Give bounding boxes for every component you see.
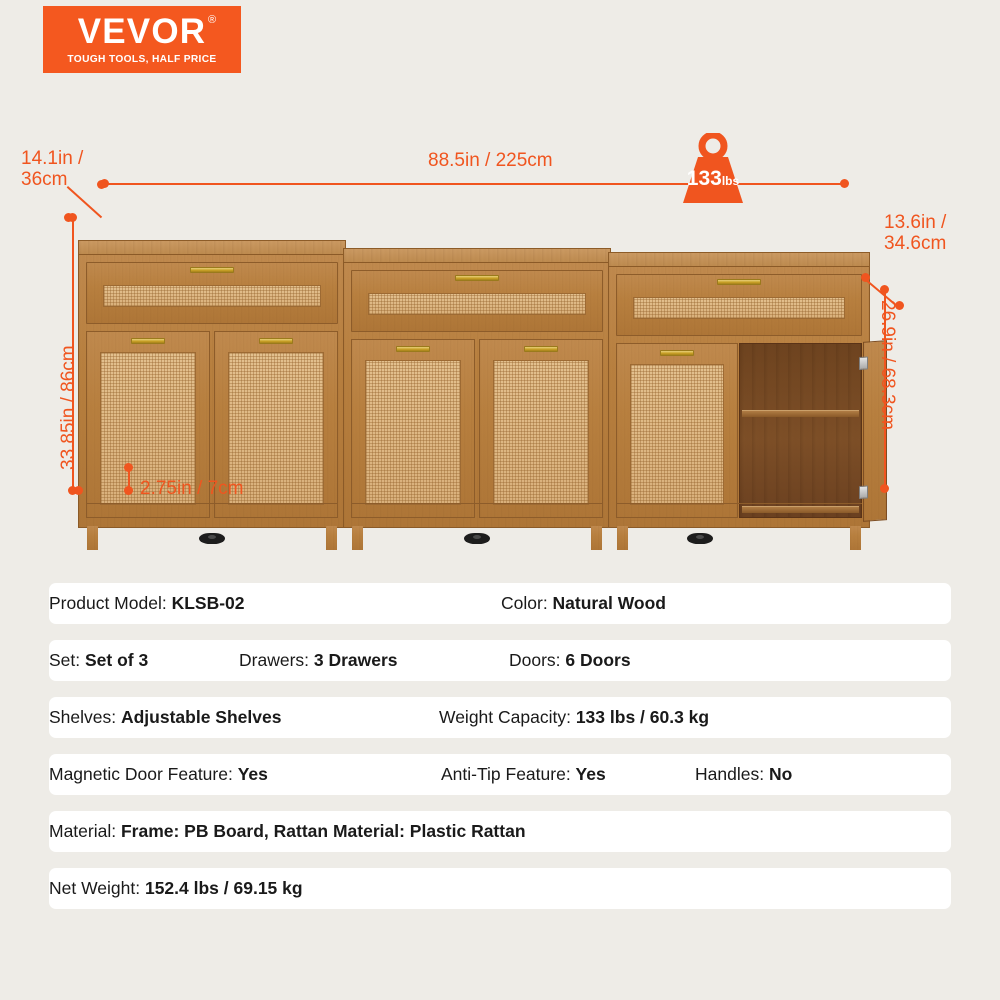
- spec-row: Magnetic Door Feature: YesAnti-Tip Featu…: [49, 754, 951, 795]
- height-dimension-label: 33.85in / 86cm: [58, 250, 79, 470]
- depth-dimension-endpoint: [97, 180, 106, 189]
- cabinet-body: [343, 262, 611, 528]
- spec-cell: Shelves: Adjustable Shelves: [49, 707, 281, 728]
- cabinet-door: [479, 339, 603, 518]
- spec-cell: Color: Natural Wood: [501, 593, 666, 614]
- spec-label: Drawers:: [239, 650, 314, 670]
- depth-dimension-label: 14.1in / 36cm: [21, 148, 83, 191]
- spec-value: KLSB-02: [172, 593, 245, 613]
- weight-number: 133: [687, 167, 722, 190]
- spec-value: Frame: PB Board, Rattan Material: Plasti…: [121, 821, 526, 841]
- cabinet-leg: [850, 526, 861, 550]
- leg-height-dimension-endpoint: [124, 463, 133, 472]
- spec-value: Natural Wood: [553, 593, 666, 613]
- spec-value: 152.4 lbs / 69.15 kg: [145, 878, 303, 898]
- vevor-logo: VEVOR® TOUGH TOOLS, HALF PRICE: [43, 6, 241, 73]
- spec-row: Product Model: KLSB-02Color: Natural Woo…: [49, 583, 951, 624]
- spec-value: 6 Doors: [565, 650, 630, 670]
- weight-unit: lbs: [722, 174, 739, 188]
- spec-value: Adjustable Shelves: [121, 707, 281, 727]
- anti-tip-foot-pad-icon: [687, 533, 713, 544]
- spec-label: Color:: [501, 593, 553, 613]
- door-opening-dimension-label: 26.9in / 68.3cm: [877, 300, 898, 500]
- spec-label: Net Weight:: [49, 878, 145, 898]
- spec-label: Magnetic Door Feature:: [49, 764, 238, 784]
- specifications-table: Product Model: KLSB-02Color: Natural Woo…: [49, 583, 951, 925]
- cabinet-door: [351, 339, 475, 518]
- height-dimension-endpoint: [68, 213, 77, 222]
- cabinet-interior: [739, 343, 862, 518]
- spec-cell: Doors: 6 Doors: [509, 650, 631, 671]
- width-dimension-label: 88.5in / 225cm: [428, 150, 553, 171]
- drawer-rattan-panel: [633, 297, 845, 319]
- cabinet-plinth: [616, 503, 862, 513]
- cabinet-plinth: [86, 503, 338, 513]
- cabinet-leg: [87, 526, 98, 550]
- spec-cell: Drawers: 3 Drawers: [239, 650, 398, 671]
- drawer-rattan-panel: [368, 293, 586, 315]
- cabinet-plinth: [351, 503, 603, 513]
- door-rattan-panel: [365, 360, 461, 505]
- cabinet-leg: [617, 526, 628, 550]
- spec-cell: Material: Frame: PB Board, Rattan Materi…: [49, 821, 526, 842]
- spec-label: Set:: [49, 650, 85, 670]
- anti-tip-foot-pad-icon: [464, 533, 490, 544]
- door-handle-icon: [396, 346, 430, 352]
- spec-value: No: [769, 764, 792, 784]
- leg-height-dimension-endpoint: [74, 486, 83, 495]
- spec-label: Weight Capacity:: [439, 707, 576, 727]
- width-dimension-endpoint: [840, 179, 849, 188]
- spec-cell: Product Model: KLSB-02: [49, 593, 245, 614]
- spec-label: Doors:: [509, 650, 565, 670]
- anti-tip-foot-pad-icon: [199, 533, 225, 544]
- cabinet-body: [608, 266, 870, 528]
- spec-label: Product Model:: [49, 593, 172, 613]
- spec-row: Net Weight: 152.4 lbs / 69.15 kg: [49, 868, 951, 909]
- brand-tagline: TOUGH TOOLS, HALF PRICE: [67, 54, 216, 65]
- side-depth-dimension-label: 13.6in / 34.6cm: [884, 212, 946, 255]
- door-rattan-panel: [630, 364, 724, 505]
- drawer: [616, 274, 862, 336]
- door-handle-icon: [259, 338, 293, 344]
- adjustable-shelf: [742, 410, 859, 417]
- spec-cell: Net Weight: 152.4 lbs / 69.15 kg: [49, 878, 303, 899]
- spec-value: 133 lbs / 60.3 kg: [576, 707, 709, 727]
- hinge-icon: [859, 485, 868, 499]
- door-handle-icon: [131, 338, 165, 344]
- spec-value: Yes: [238, 764, 268, 784]
- drawer: [351, 270, 603, 332]
- spec-cell: Anti-Tip Feature: Yes: [441, 764, 606, 785]
- cabinet-leg: [591, 526, 602, 550]
- spec-row: Set: Set of 3Drawers: 3 DrawersDoors: 6 …: [49, 640, 951, 681]
- spec-label: Anti-Tip Feature:: [441, 764, 576, 784]
- door-row: [351, 339, 603, 518]
- spec-label: Shelves:: [49, 707, 121, 727]
- drawer-handle-icon: [717, 279, 761, 285]
- cabinet-leg: [352, 526, 363, 550]
- door-handle-icon: [660, 350, 694, 356]
- leg-height-dimension-endpoint: [124, 486, 133, 495]
- weight-capacity-badge: 133lbs: [668, 133, 758, 205]
- drawer: [86, 262, 338, 324]
- spec-cell: Set: Set of 3: [49, 650, 148, 671]
- drawer-handle-icon: [455, 275, 499, 281]
- side-depth-dimension-endpoint: [861, 273, 870, 282]
- door-handle-icon: [524, 346, 558, 352]
- spec-cell: Weight Capacity: 133 lbs / 60.3 kg: [439, 707, 709, 728]
- leg-height-dimension-label: 2.75in / 7cm: [140, 478, 244, 499]
- registered-trademark-icon: ®: [208, 15, 217, 26]
- spec-cell: Magnetic Door Feature: Yes: [49, 764, 268, 785]
- door-rattan-panel: [493, 360, 589, 505]
- spec-value: Yes: [576, 764, 606, 784]
- spec-value: Set of 3: [85, 650, 148, 670]
- cabinet-unit-middle: [343, 248, 611, 550]
- spec-label: Material:: [49, 821, 121, 841]
- hinge-icon: [859, 356, 868, 370]
- spec-label: Handles:: [695, 764, 769, 784]
- cabinet-unit-right: [608, 252, 870, 550]
- spec-value: 3 Drawers: [314, 650, 398, 670]
- spec-cell: Handles: No: [695, 764, 792, 785]
- cabinet-door: [616, 343, 738, 518]
- brand-name: VEVOR®: [78, 14, 207, 49]
- door-opening-dimension-endpoint: [880, 285, 889, 294]
- cabinet-leg: [326, 526, 337, 550]
- drawer-handle-icon: [190, 267, 234, 273]
- cabinet-unit-left: [78, 240, 346, 550]
- drawer-rattan-panel: [103, 285, 321, 307]
- weight-capacity-value: 133lbs: [668, 167, 758, 191]
- spec-row: Shelves: Adjustable ShelvesWeight Capaci…: [49, 697, 951, 738]
- spec-row: Material: Frame: PB Board, Rattan Materi…: [49, 811, 951, 852]
- brand-name-text: VEVOR: [78, 12, 207, 51]
